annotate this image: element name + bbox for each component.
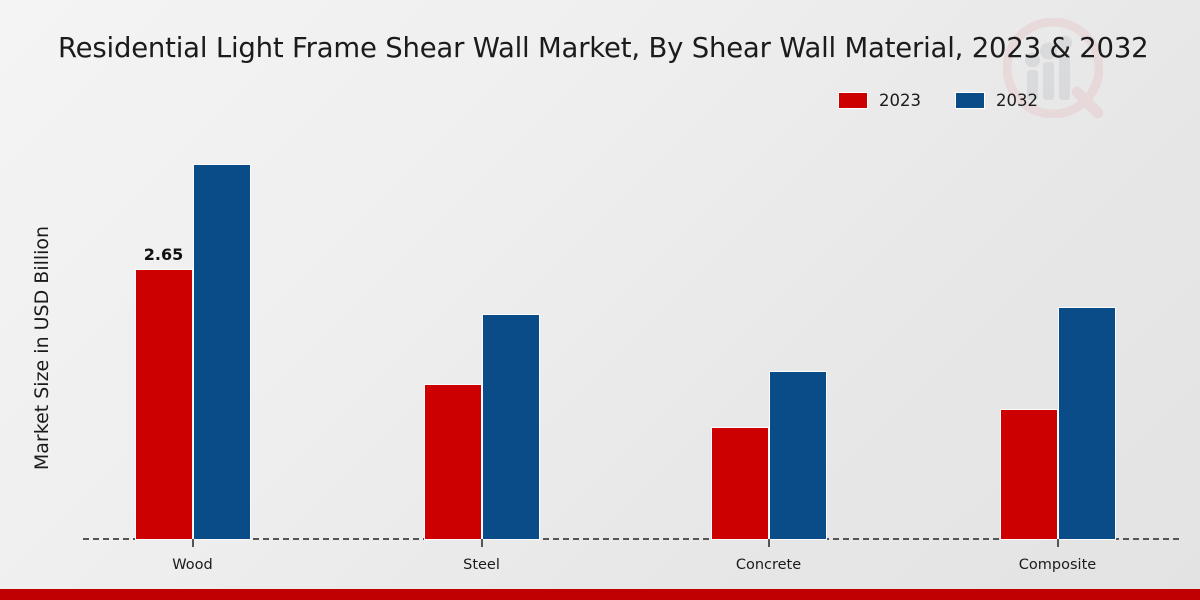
legend-swatch-2023: [838, 92, 868, 109]
bar-concrete-2023[interactable]: [711, 427, 769, 540]
legend-item-2023[interactable]: 2023: [838, 91, 921, 110]
x-label-wood: Wood: [172, 557, 212, 573]
x-label-concrete: Concrete: [736, 557, 801, 573]
legend-label-2032: 2032: [996, 91, 1038, 110]
bar-group-concrete: Concrete: [681, 131, 856, 540]
x-tick-composite: [1057, 539, 1059, 547]
legend-swatch-2032: [955, 92, 985, 109]
x-label-steel: Steel: [463, 557, 500, 573]
x-tick-concrete: [768, 539, 770, 547]
x-tick-steel: [481, 539, 483, 547]
bar-composite-2023[interactable]: [1000, 409, 1058, 540]
bar-group-composite: Composite: [970, 131, 1145, 540]
y-axis-title: Market Size in USD Billion: [31, 148, 53, 548]
bar-composite-2032[interactable]: [1058, 307, 1116, 540]
chart-title: Residential Light Frame Shear Wall Marke…: [58, 30, 1168, 67]
bar-group-wood: 2.65 Wood: [105, 131, 280, 540]
bar-steel-2023[interactable]: [424, 384, 482, 540]
x-tick-wood: [192, 539, 194, 547]
bar-value-wood-2023: 2.65: [144, 245, 183, 264]
legend-label-2023: 2023: [879, 91, 921, 110]
bar-group-steel: Steel: [394, 131, 569, 540]
bar-wood-2032[interactable]: [193, 164, 251, 540]
x-label-composite: Composite: [1019, 557, 1096, 573]
footer-accent-bar: [0, 589, 1200, 600]
chart-figure: Residential Light Frame Shear Wall Marke…: [0, 0, 1200, 600]
bar-concrete-2032[interactable]: [769, 371, 827, 540]
legend-item-2032[interactable]: 2032: [955, 91, 1038, 110]
bar-wood-2023[interactable]: 2.65: [135, 269, 193, 540]
bar-steel-2032[interactable]: [482, 314, 540, 540]
plot-area: 2.65 Wood Steel Concrete Composite: [83, 130, 1179, 540]
chart-legend: 2023 2032: [838, 91, 1038, 110]
